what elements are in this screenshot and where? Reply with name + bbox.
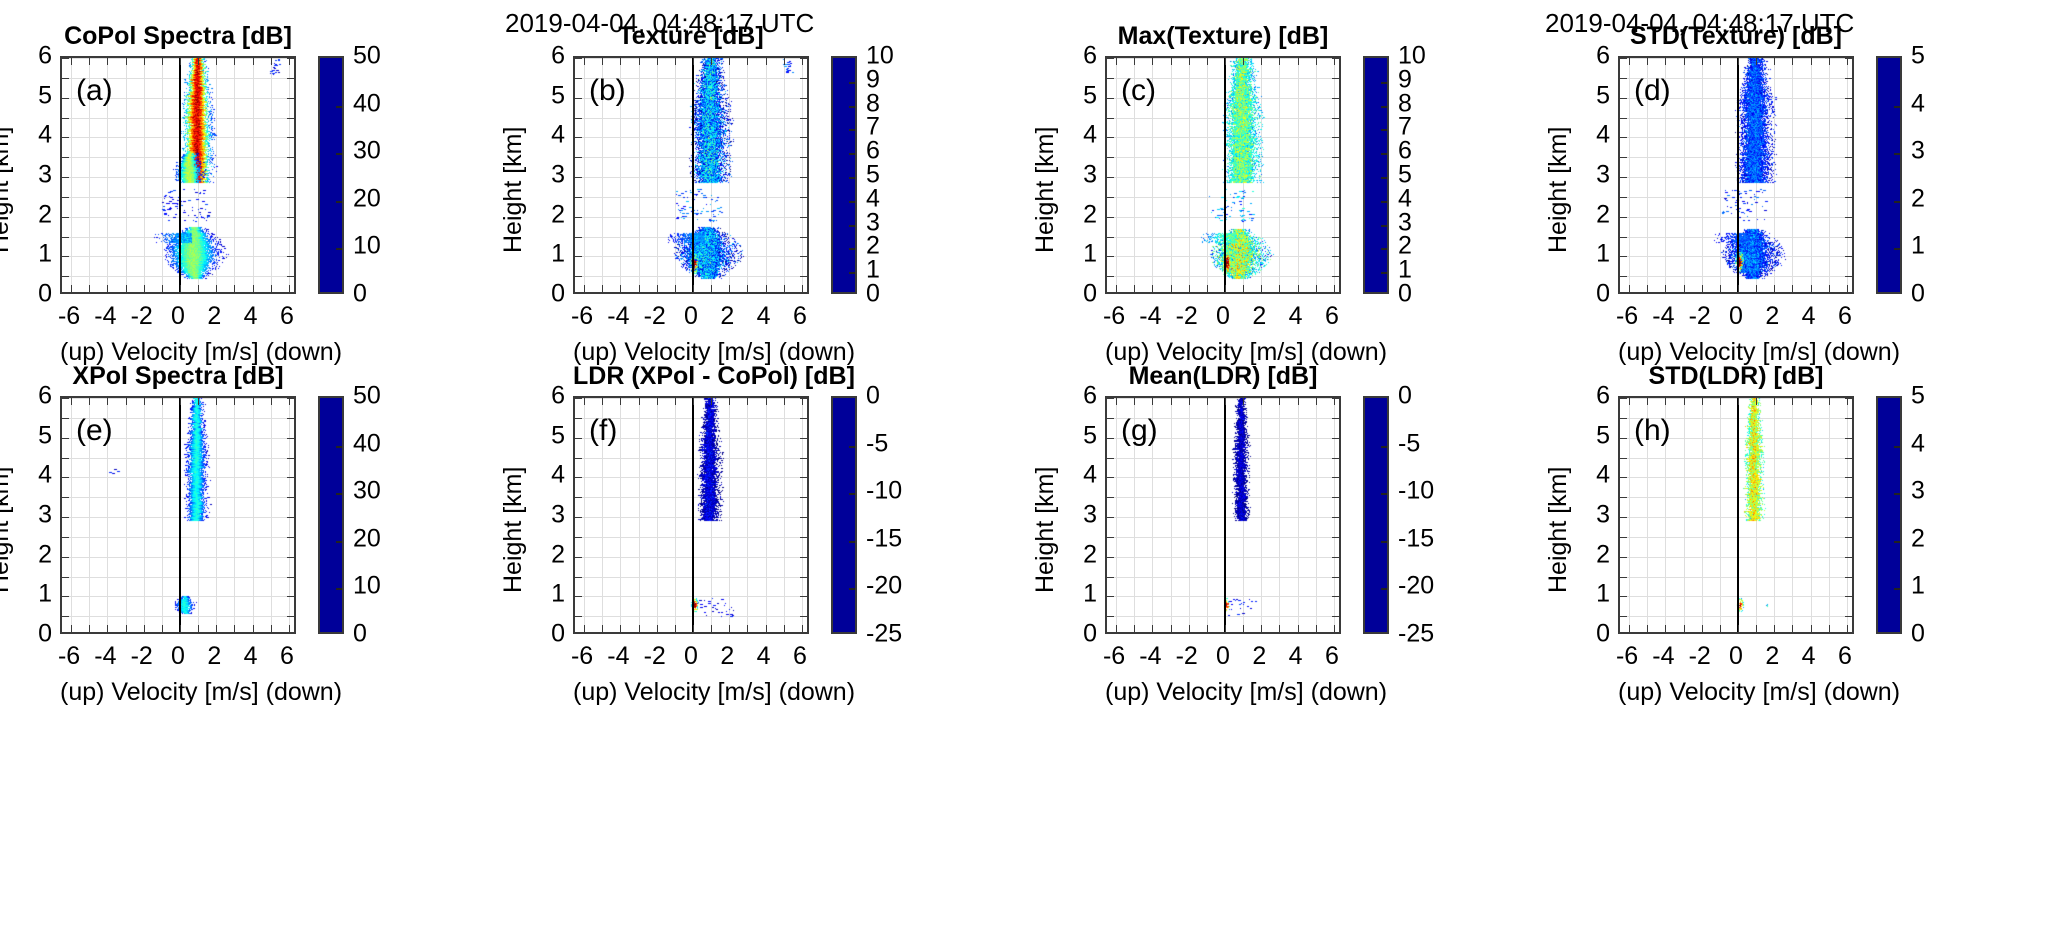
x-tick	[1261, 625, 1262, 632]
x-tick	[1665, 285, 1666, 292]
y-tick	[1332, 458, 1339, 459]
x-tick	[216, 398, 217, 405]
y-tick	[287, 438, 294, 439]
colorbar-tick-label: 10	[353, 572, 381, 601]
zero-velocity-line	[1224, 58, 1226, 292]
y-tick	[62, 118, 69, 119]
x-tick	[711, 285, 712, 292]
colorbar-tick	[1381, 177, 1387, 179]
colorbar	[1876, 56, 1902, 294]
x-tick	[271, 625, 272, 632]
colorbar-tick-label: 3	[1911, 477, 1925, 506]
x-tick-label: 4	[1802, 642, 1816, 671]
zero-velocity-line	[1737, 58, 1739, 292]
y-tick-label: 6	[535, 382, 565, 411]
x-tick	[802, 58, 803, 65]
x-tick-label: 2	[1252, 642, 1266, 671]
y-tick	[287, 98, 294, 99]
y-tick-label: 1	[1580, 240, 1610, 269]
colorbar	[1363, 396, 1389, 634]
y-tick	[1620, 438, 1627, 439]
x-tick	[1189, 625, 1190, 632]
x-tick-label: 0	[171, 302, 185, 331]
y-tick	[1107, 137, 1114, 138]
y-tick	[800, 58, 807, 59]
y-tick	[287, 256, 294, 257]
y-tick	[62, 98, 69, 99]
colorbar	[318, 396, 344, 634]
y-tick	[1332, 276, 1339, 277]
y-tick	[800, 438, 807, 439]
x-tick	[675, 58, 676, 65]
x-axis-label: (up) Velocity [m/s] (down)	[1105, 678, 1341, 707]
plot-area: (d)	[1618, 56, 1854, 294]
y-tick	[62, 237, 69, 238]
y-tick	[800, 256, 807, 257]
colorbar-tick	[336, 106, 342, 108]
x-tick	[126, 625, 127, 632]
colorbar-tick-label: -10	[1398, 477, 1434, 506]
colorbar-tick	[849, 225, 855, 227]
y-tick-label: 4	[22, 121, 52, 150]
colorbar-tick	[336, 201, 342, 203]
colorbar-tick	[1381, 493, 1387, 495]
x-tick-label: 2	[207, 302, 221, 331]
plot-area: (h)	[1618, 396, 1854, 634]
y-tick	[1332, 398, 1339, 399]
y-tick	[287, 78, 294, 79]
x-tick-label: 0	[684, 302, 698, 331]
x-tick	[584, 285, 585, 292]
y-tick	[1845, 157, 1852, 158]
x-tick	[802, 625, 803, 632]
y-tick-label: 4	[1067, 461, 1097, 490]
x-tick	[1316, 285, 1317, 292]
x-tick	[1647, 625, 1648, 632]
panel-letter: (a)	[76, 74, 113, 108]
y-tick	[1845, 256, 1852, 257]
y-tick	[1845, 237, 1852, 238]
x-tick	[1629, 625, 1630, 632]
y-tick	[287, 477, 294, 478]
y-axis-label: Height [km]	[1544, 467, 1573, 593]
y-tick	[800, 237, 807, 238]
y-tick	[1332, 577, 1339, 578]
x-tick	[766, 285, 767, 292]
x-tick-label: 0	[1216, 642, 1230, 671]
y-tick-label: 1	[1067, 240, 1097, 269]
y-tick	[1107, 276, 1114, 277]
y-tick	[1845, 557, 1852, 558]
y-tick	[1620, 497, 1627, 498]
x-tick	[1298, 625, 1299, 632]
x-tick-label: 4	[244, 642, 258, 671]
x-tick	[162, 398, 163, 405]
panel-title: STD(Texture) [dB]	[1618, 22, 1854, 51]
y-tick	[575, 78, 582, 79]
y-tick	[62, 458, 69, 459]
y-tick	[1332, 418, 1339, 419]
x-tick-label: 2	[207, 642, 221, 671]
x-tick-label: -6	[58, 642, 80, 671]
x-tick	[89, 58, 90, 65]
y-tick	[1107, 197, 1114, 198]
panel-title: STD(LDR) [dB]	[1618, 362, 1854, 391]
x-tick	[1334, 58, 1335, 65]
colorbar-tick	[849, 82, 855, 84]
x-tick	[1829, 58, 1830, 65]
y-tick	[1107, 177, 1114, 178]
y-tick	[1620, 157, 1627, 158]
y-tick	[1107, 438, 1114, 439]
y-tick	[1332, 98, 1339, 99]
y-tick	[800, 177, 807, 178]
panel-letter: (d)	[1634, 74, 1671, 108]
y-tick	[1107, 497, 1114, 498]
x-tick-label: -4	[1652, 642, 1674, 671]
y-tick	[1845, 118, 1852, 119]
x-tick	[1684, 398, 1685, 405]
x-tick	[693, 398, 694, 405]
panel-letter: (h)	[1634, 414, 1671, 448]
colorbar-tick	[849, 248, 855, 250]
y-tick	[1107, 98, 1114, 99]
y-tick	[1620, 517, 1627, 518]
y-tick	[575, 517, 582, 518]
x-tick-label: 4	[1289, 642, 1303, 671]
x-tick	[107, 58, 108, 65]
x-tick	[1811, 58, 1812, 65]
y-tick-label: 5	[1067, 421, 1097, 450]
x-tick	[711, 625, 712, 632]
x-tick	[234, 398, 235, 405]
y-tick	[62, 497, 69, 498]
x-tick-label: 6	[280, 302, 294, 331]
colorbar-tick	[336, 588, 342, 590]
y-tick	[1107, 58, 1114, 59]
y-tick	[1620, 98, 1627, 99]
colorbar-tick	[849, 588, 855, 590]
x-tick	[289, 398, 290, 405]
y-tick	[1620, 256, 1627, 257]
x-tick	[1279, 58, 1280, 65]
x-tick-label: 6	[1838, 642, 1852, 671]
colorbar-tick-label: 1	[1911, 572, 1925, 601]
x-tick	[198, 285, 199, 292]
x-tick	[1774, 285, 1775, 292]
y-tick	[1845, 438, 1852, 439]
x-tick	[1647, 398, 1648, 405]
panel-letter: (f)	[589, 414, 617, 448]
y-tick	[1107, 616, 1114, 617]
y-tick	[575, 157, 582, 158]
y-tick	[1845, 398, 1852, 399]
y-tick	[1332, 477, 1339, 478]
y-tick	[287, 118, 294, 119]
x-tick	[802, 398, 803, 405]
x-tick	[1298, 398, 1299, 405]
y-tick	[1107, 537, 1114, 538]
x-tick	[620, 398, 621, 405]
x-tick	[1207, 285, 1208, 292]
x-tick	[1647, 285, 1648, 292]
y-tick	[575, 596, 582, 597]
y-tick	[1845, 517, 1852, 518]
y-tick-label: 1	[22, 240, 52, 269]
y-tick	[1845, 596, 1852, 597]
x-tick	[1684, 58, 1685, 65]
x-tick-label: 2	[1765, 302, 1779, 331]
y-tick	[800, 276, 807, 277]
y-tick	[1332, 537, 1339, 538]
panel-title: LDR (XPol - CoPol) [dB]	[573, 362, 809, 391]
y-tick	[62, 438, 69, 439]
colorbar-tick	[1381, 272, 1387, 274]
y-tick	[800, 137, 807, 138]
x-tick	[711, 58, 712, 65]
x-tick	[766, 398, 767, 405]
colorbar-tick	[1381, 82, 1387, 84]
colorbar-tick-label: 4	[1911, 89, 1925, 118]
x-tick-label: -2	[644, 302, 666, 331]
x-tick	[711, 398, 712, 405]
y-tick	[800, 398, 807, 399]
x-tick	[1279, 625, 1280, 632]
y-tick	[62, 577, 69, 578]
y-tick	[1107, 517, 1114, 518]
x-tick-label: -6	[571, 302, 593, 331]
colorbar-tick-label: 50	[353, 382, 381, 411]
x-tick	[729, 398, 730, 405]
x-tick	[1702, 285, 1703, 292]
x-tick	[1756, 58, 1757, 65]
x-tick	[126, 285, 127, 292]
y-tick	[575, 477, 582, 478]
y-tick-label: 0	[1580, 620, 1610, 649]
x-axis-label: (up) Velocity [m/s] (down)	[60, 678, 296, 707]
y-tick	[287, 458, 294, 459]
x-tick	[639, 398, 640, 405]
y-tick	[287, 197, 294, 198]
y-tick	[575, 537, 582, 538]
x-tick	[1792, 285, 1793, 292]
y-tick	[575, 418, 582, 419]
x-tick-label: -6	[1616, 642, 1638, 671]
x-tick	[584, 625, 585, 632]
x-tick-label: 2	[720, 642, 734, 671]
colorbar-tick-label: 20	[353, 184, 381, 213]
colorbar-tick	[1381, 201, 1387, 203]
y-tick-label: 3	[535, 501, 565, 530]
y-tick	[1620, 577, 1627, 578]
y-tick	[1107, 477, 1114, 478]
y-tick	[1620, 276, 1627, 277]
colorbar-tick	[1894, 541, 1900, 543]
x-tick	[234, 285, 235, 292]
x-tick	[1629, 285, 1630, 292]
y-tick	[575, 217, 582, 218]
y-tick	[575, 276, 582, 277]
x-tick	[180, 625, 181, 632]
y-tick	[800, 517, 807, 518]
y-tick	[1845, 418, 1852, 419]
y-tick-label: 3	[1067, 501, 1097, 530]
y-tick	[62, 276, 69, 277]
y-tick-label: 5	[535, 81, 565, 110]
y-tick-label: 4	[535, 121, 565, 150]
x-tick	[747, 625, 748, 632]
y-tick-label: 0	[535, 620, 565, 649]
x-tick	[1243, 285, 1244, 292]
x-tick	[89, 398, 90, 405]
y-tick-label: 1	[535, 580, 565, 609]
colorbar-tick-label: 2	[1911, 184, 1925, 213]
x-tick-label: 6	[1838, 302, 1852, 331]
colorbar-tick-label: 5	[1911, 382, 1925, 411]
x-tick	[1243, 398, 1244, 405]
x-tick	[602, 285, 603, 292]
y-axis-label: Height [km]	[499, 127, 528, 253]
zero-velocity-line	[692, 58, 694, 292]
y-tick	[800, 217, 807, 218]
y-tick	[287, 157, 294, 158]
y-tick	[1332, 197, 1339, 198]
y-tick	[62, 58, 69, 59]
x-tick	[675, 285, 676, 292]
x-tick-label: 0	[684, 642, 698, 671]
y-tick-label: 4	[22, 461, 52, 490]
y-tick-label: 0	[22, 280, 52, 309]
x-tick	[784, 285, 785, 292]
x-tick	[1792, 625, 1793, 632]
y-tick-label: 1	[22, 580, 52, 609]
y-tick	[1620, 616, 1627, 617]
x-tick	[162, 625, 163, 632]
y-tick	[1620, 118, 1627, 119]
colorbar-tick	[849, 153, 855, 155]
x-axis-label: (up) Velocity [m/s] (down)	[1618, 678, 1854, 707]
y-tick	[287, 577, 294, 578]
plot-area: (f)	[573, 396, 809, 634]
y-tick	[800, 616, 807, 617]
x-tick	[1261, 398, 1262, 405]
x-tick	[1171, 398, 1172, 405]
colorbar-tick	[849, 106, 855, 108]
y-tick	[1845, 458, 1852, 459]
y-tick	[575, 438, 582, 439]
y-tick-label: 2	[1067, 200, 1097, 229]
x-tick	[1152, 58, 1153, 65]
y-tick	[800, 418, 807, 419]
plot-area: (g)	[1105, 396, 1341, 634]
colorbar	[831, 56, 857, 294]
x-tick	[1811, 285, 1812, 292]
y-tick	[575, 137, 582, 138]
x-tick-label: -2	[644, 642, 666, 671]
colorbar-tick	[849, 201, 855, 203]
colorbar-tick	[336, 153, 342, 155]
y-tick	[1845, 58, 1852, 59]
y-tick	[800, 118, 807, 119]
y-tick	[1332, 256, 1339, 257]
y-tick	[287, 398, 294, 399]
panel-letter: (e)	[76, 414, 113, 448]
panel-letter: (b)	[589, 74, 626, 108]
x-tick	[1811, 398, 1812, 405]
panel-title: CoPol Spectra [dB]	[60, 22, 296, 51]
y-tick	[287, 177, 294, 178]
x-tick	[747, 398, 748, 405]
y-tick	[1620, 418, 1627, 419]
colorbar-tick	[849, 541, 855, 543]
x-tick	[1665, 625, 1666, 632]
y-tick	[62, 256, 69, 257]
y-tick	[1107, 398, 1114, 399]
y-tick	[1845, 616, 1852, 617]
y-tick	[287, 276, 294, 277]
x-tick	[1847, 58, 1848, 65]
y-tick	[575, 256, 582, 257]
x-tick	[89, 285, 90, 292]
x-tick	[1684, 285, 1685, 292]
x-tick	[802, 285, 803, 292]
colorbar-tick-label: 50	[353, 42, 381, 71]
y-tick	[1845, 137, 1852, 138]
x-tick	[1189, 285, 1190, 292]
x-tick	[729, 285, 730, 292]
x-tick-label: 2	[720, 302, 734, 331]
x-tick	[1189, 398, 1190, 405]
y-tick	[575, 98, 582, 99]
x-tick	[1738, 58, 1739, 65]
y-tick	[575, 616, 582, 617]
y-tick	[1332, 237, 1339, 238]
y-tick	[62, 157, 69, 158]
y-tick-label: 6	[1067, 382, 1097, 411]
colorbar-tick	[849, 446, 855, 448]
x-tick	[1152, 625, 1153, 632]
x-tick-label: 4	[757, 642, 771, 671]
y-tick	[1107, 557, 1114, 558]
colorbar-tick	[1894, 446, 1900, 448]
y-tick	[1845, 98, 1852, 99]
x-tick	[602, 58, 603, 65]
y-tick	[1332, 177, 1339, 178]
x-tick	[1720, 398, 1721, 405]
x-tick	[766, 58, 767, 65]
y-tick	[800, 157, 807, 158]
x-tick	[1829, 625, 1830, 632]
x-tick	[639, 285, 640, 292]
colorbar-tick-label: 40	[353, 89, 381, 118]
colorbar-tick-label: 3	[1911, 137, 1925, 166]
y-tick-label: 6	[1067, 42, 1097, 71]
x-tick	[1665, 58, 1666, 65]
colorbar	[1876, 396, 1902, 634]
y-tick	[800, 577, 807, 578]
y-tick-label: 0	[1067, 280, 1097, 309]
x-tick-label: 4	[1289, 302, 1303, 331]
y-tick	[1332, 118, 1339, 119]
panel-title: Max(Texture) [dB]	[1105, 22, 1341, 51]
colorbar-tick	[849, 177, 855, 179]
y-axis-label: Height [km]	[499, 467, 528, 593]
y-tick	[287, 537, 294, 538]
x-tick	[71, 285, 72, 292]
colorbar-tick	[1894, 588, 1900, 590]
y-tick-label: 5	[1067, 81, 1097, 110]
y-tick	[1620, 78, 1627, 79]
